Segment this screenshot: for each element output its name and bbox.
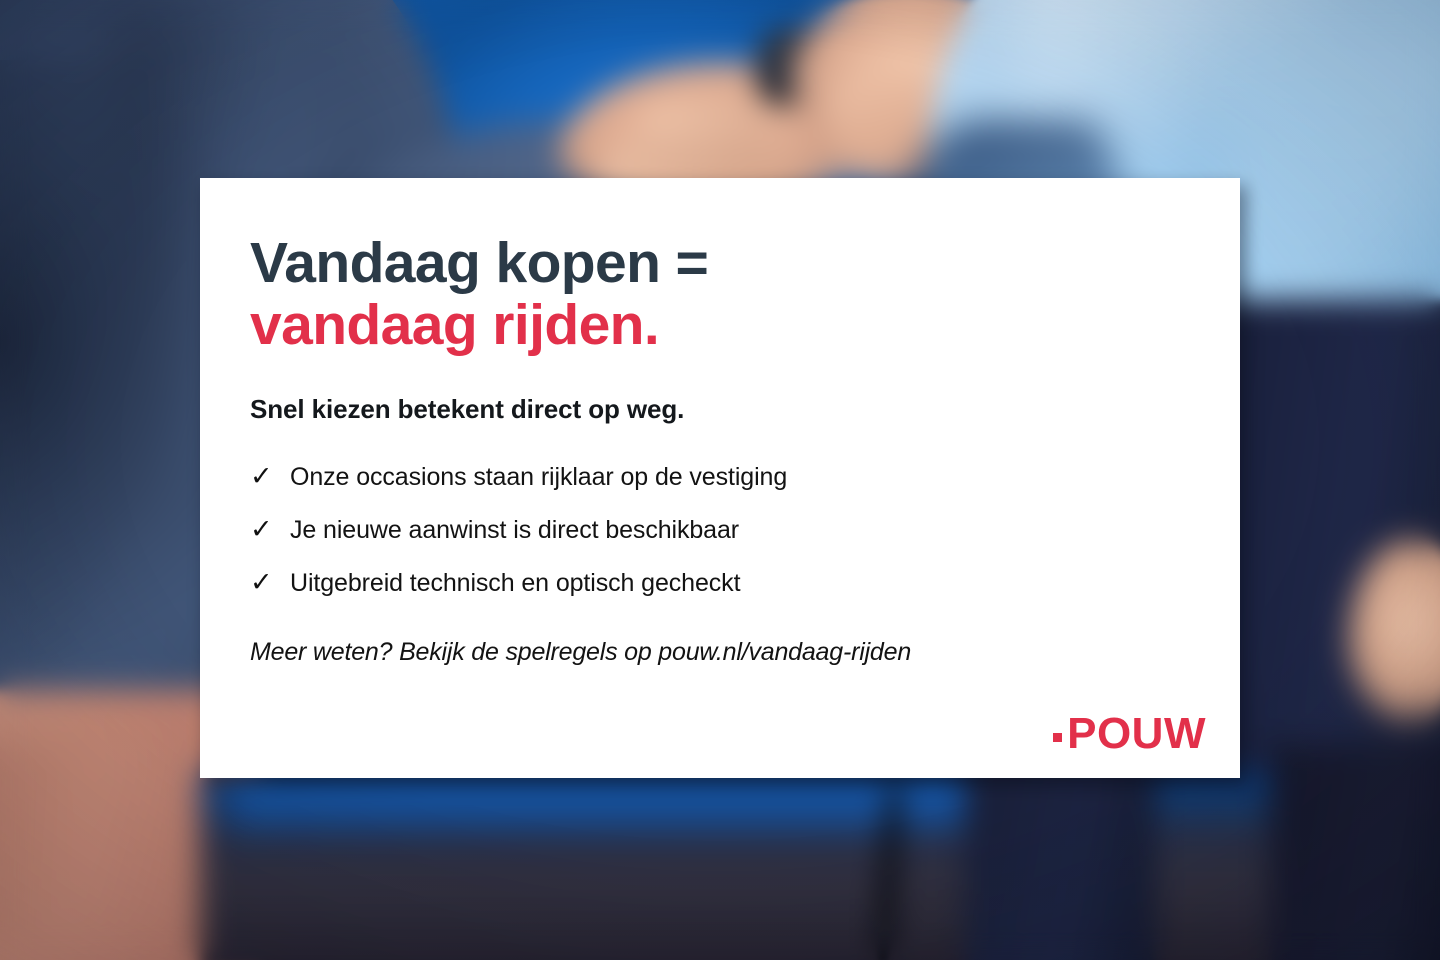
- photo-shirt-fold-2: [1230, 30, 1440, 330]
- ad-banner: Vandaag kopen = vandaag rijden. Snel kie…: [0, 0, 1440, 960]
- page-title: Vandaag kopen = vandaag rijden.: [250, 232, 1240, 356]
- check-icon: ✓: [250, 463, 272, 490]
- headline-line-2: vandaag rijden.: [250, 294, 1240, 356]
- list-item: ✓ Onze occasions staan rijklaar op de ve…: [250, 463, 1240, 492]
- photo-left-lower-fold: [0, 740, 220, 940]
- logo-dot-icon: [1053, 733, 1062, 742]
- footnote: Meer weten? Bekijk de spelregels op pouw…: [250, 638, 1240, 667]
- benefit-label: Uitgebreid technisch en optisch gecheckt: [290, 569, 740, 598]
- photo-ground-blue-strip: [230, 772, 990, 842]
- list-item: ✓ Je nieuwe aanwinst is direct beschikba…: [250, 516, 1240, 545]
- subtitle: Snel kiezen betekent direct op weg.: [250, 394, 1240, 425]
- benefits-list: ✓ Onze occasions staan rijklaar op de ve…: [250, 463, 1240, 598]
- photo-dark-right-block: [1270, 745, 1440, 960]
- benefit-label: Je nieuwe aanwinst is direct beschikbaar: [290, 516, 739, 545]
- check-icon: ✓: [250, 569, 272, 596]
- benefit-label: Onze occasions staan rijklaar op de vest…: [290, 463, 787, 492]
- logo-wordmark: POUW: [1067, 712, 1206, 756]
- photo-dark-post: [965, 760, 1155, 960]
- pouw-logo: POUW: [1053, 712, 1206, 756]
- list-item: ✓ Uitgebreid technisch en optisch gechec…: [250, 569, 1240, 598]
- promo-card: Vandaag kopen = vandaag rijden. Snel kie…: [200, 178, 1240, 778]
- headline-line-1: Vandaag kopen =: [250, 232, 1240, 294]
- check-icon: ✓: [250, 516, 272, 543]
